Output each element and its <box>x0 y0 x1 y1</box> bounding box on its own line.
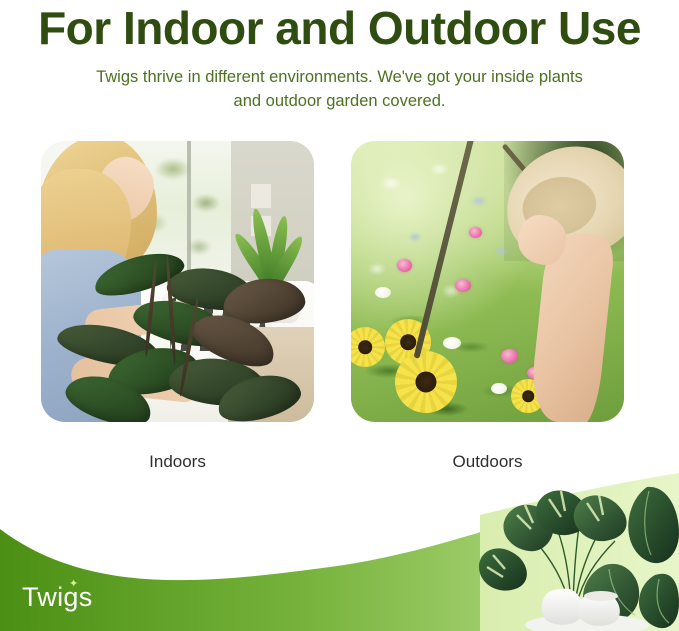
pink-flower <box>501 349 518 363</box>
sunflower <box>395 351 457 413</box>
sunflower-core <box>358 340 372 354</box>
footer-wave: Twigs ✦ <box>0 471 679 631</box>
outdoor-photo <box>351 141 624 422</box>
white-flower <box>491 383 507 394</box>
photo-card-indoors <box>41 141 314 422</box>
sunflower-core <box>400 334 416 350</box>
rubber-plant <box>41 273 314 422</box>
promo-banner: For Indoor and Outdoor Use Twigs thrive … <box>0 0 679 631</box>
photo-card-group <box>0 141 679 423</box>
white-flower <box>375 287 391 298</box>
gardener-hand <box>518 215 566 265</box>
pink-flower <box>397 259 412 272</box>
pot-left <box>542 589 583 625</box>
white-flower <box>443 337 461 349</box>
page-subtitle: Twigs thrive in different environments. … <box>90 66 589 114</box>
brand-wordmark: Twigs ✦ <box>22 584 93 611</box>
caption-indoors: Indoors <box>41 452 314 472</box>
indoor-photo <box>41 141 314 422</box>
tropical-plants-illustration <box>479 479 679 631</box>
photo-card-outdoors <box>351 141 624 422</box>
brand-name: Twigs <box>22 582 93 612</box>
sunflower-core <box>522 390 534 402</box>
page-title: For Indoor and Outdoor Use <box>0 2 679 55</box>
caption-outdoors: Outdoors <box>351 452 624 472</box>
pink-flower <box>469 227 482 238</box>
sparkle-icon: ✦ <box>69 579 79 590</box>
pink-flower <box>455 279 471 292</box>
pot-right-rim <box>584 591 618 601</box>
sunflower-core <box>415 371 436 392</box>
